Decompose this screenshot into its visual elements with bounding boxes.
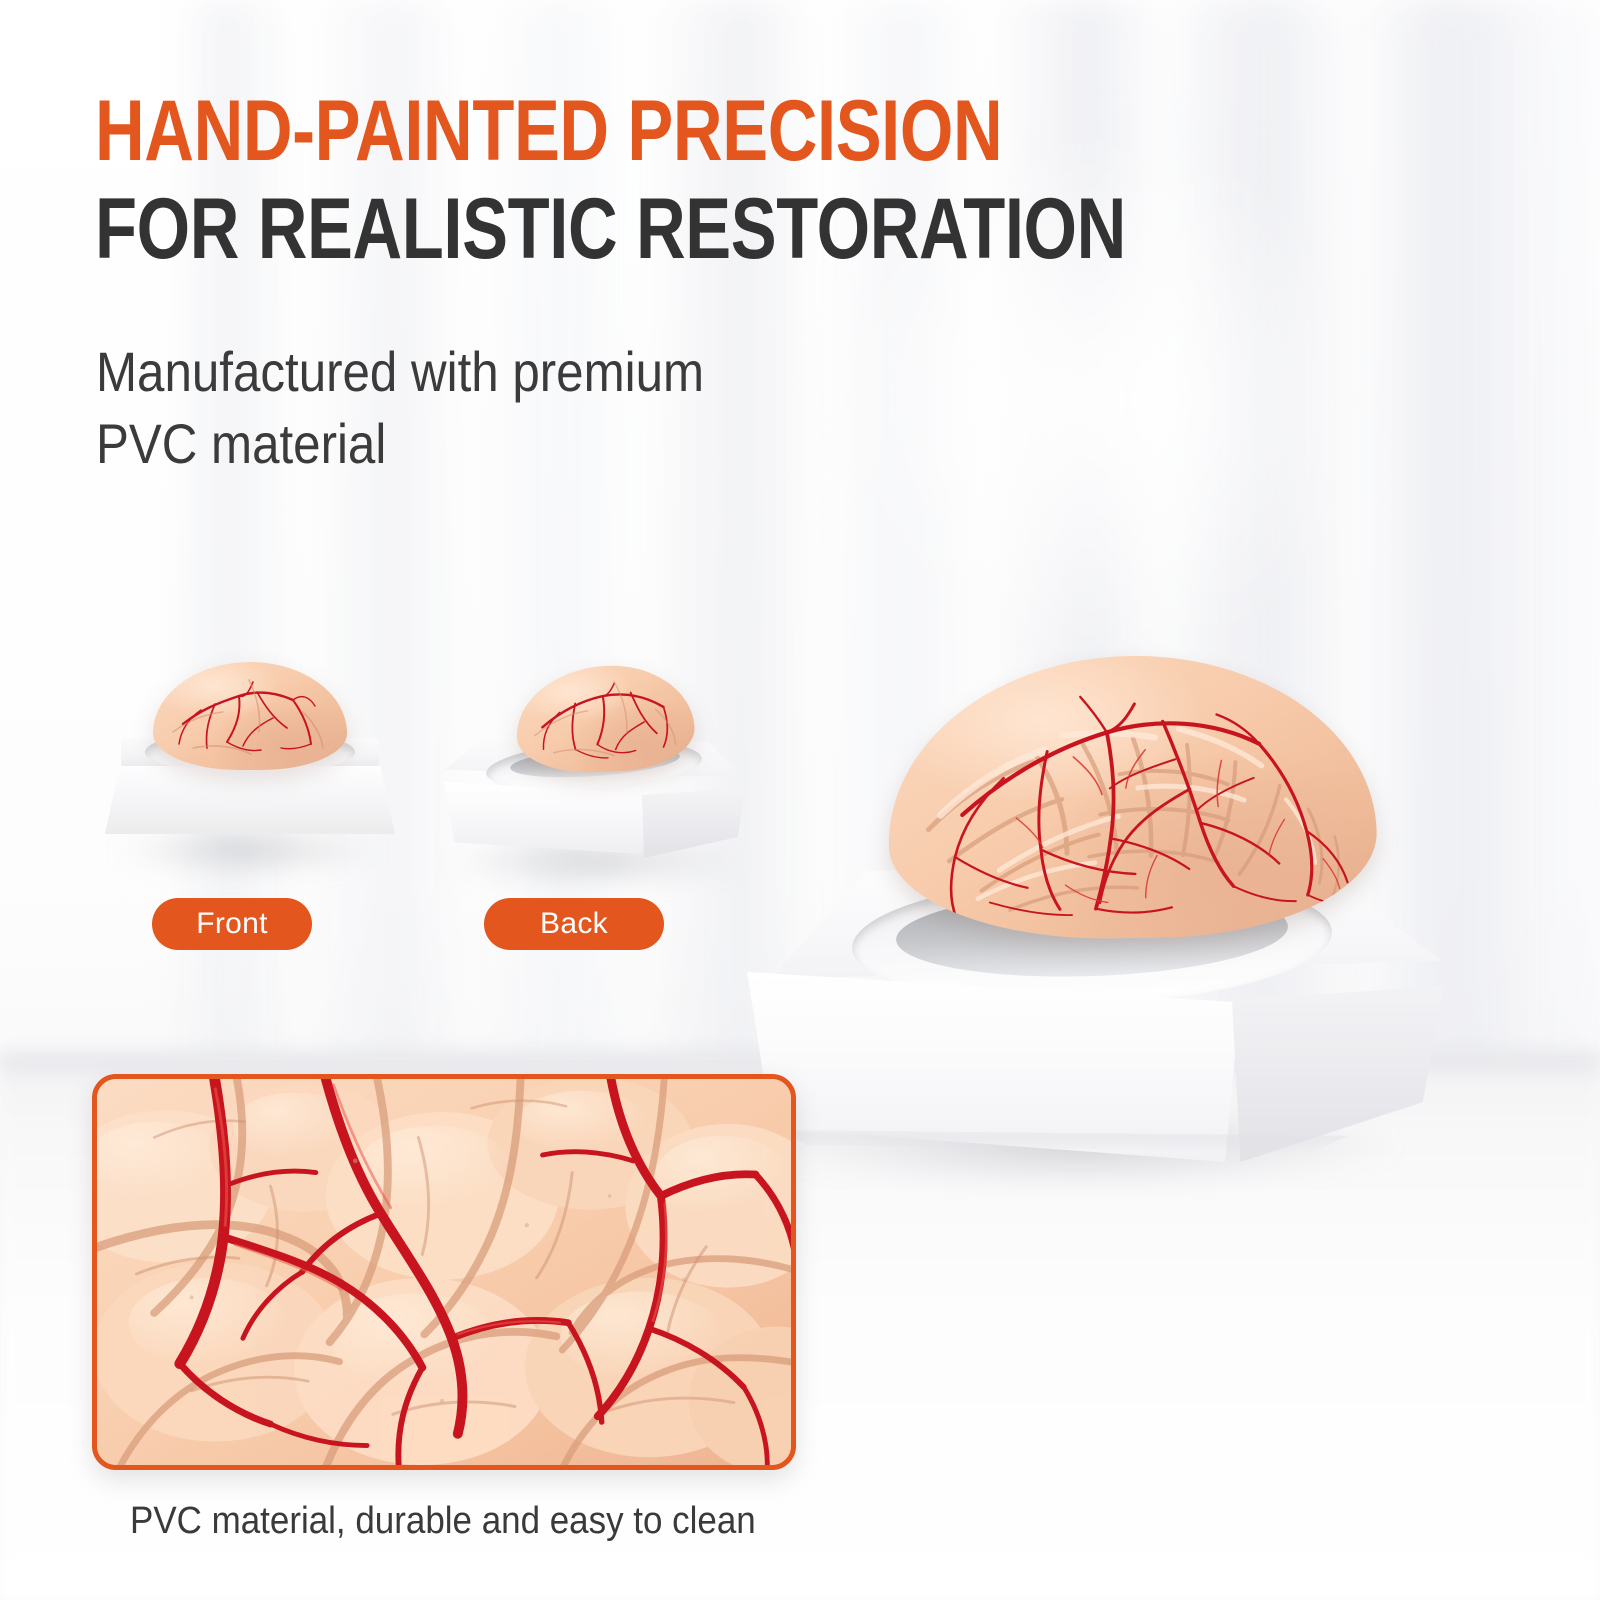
page-title: HAND-PAINTED PRECISION FOR REALISTIC RES… <box>95 82 1126 278</box>
closeup-inset <box>92 1074 796 1470</box>
back-brain <box>513 661 696 776</box>
brain-model-hero <box>720 620 1460 1180</box>
hero-brain <box>886 652 1379 942</box>
headline-line-1: HAND-PAINTED PRECISION <box>95 82 1126 180</box>
back-stand-face-left <box>444 782 650 854</box>
headline-line-2: FOR REALISTIC RESTORATION <box>95 180 1126 278</box>
hero-brain-surface <box>886 652 1379 942</box>
brain-model-back <box>428 640 758 880</box>
front-brain <box>153 662 347 770</box>
back-brain-vessels <box>513 661 696 776</box>
front-brain-vessels <box>153 662 347 770</box>
front-stand-face <box>105 766 395 834</box>
product-feature-stage: HAND-PAINTED PRECISION FOR REALISTIC RES… <box>0 0 1600 1600</box>
brain-model-front <box>105 640 395 870</box>
badge-back[interactable]: Back <box>484 898 664 950</box>
inset-caption: PVC material, durable and easy to clean <box>130 1500 756 1543</box>
subtitle-text: Manufactured with premium PVC material <box>96 336 704 480</box>
badge-front[interactable]: Front <box>152 898 312 950</box>
closeup-brain-texture <box>97 1079 791 1465</box>
